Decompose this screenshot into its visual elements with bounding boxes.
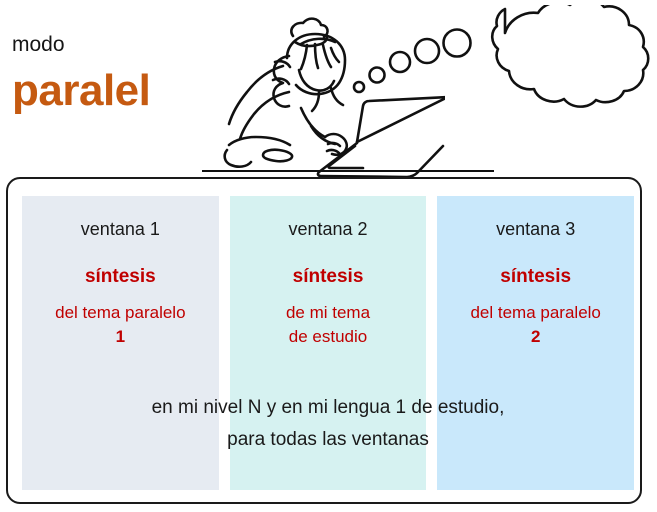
caption-line-2: para todas las ventanas	[22, 424, 634, 456]
caption-line-1: en mi nivel N y en mi lengua 1 de estudi…	[22, 392, 634, 424]
mode-label: modo	[12, 33, 65, 57]
desk-line	[202, 170, 494, 172]
mode-name: paralel	[12, 66, 150, 116]
panel-caption: en mi nivel N y en mi lengua 1 de estudi…	[22, 392, 634, 456]
thought-bubble: aprendo mejor en comparación	[345, 5, 657, 130]
